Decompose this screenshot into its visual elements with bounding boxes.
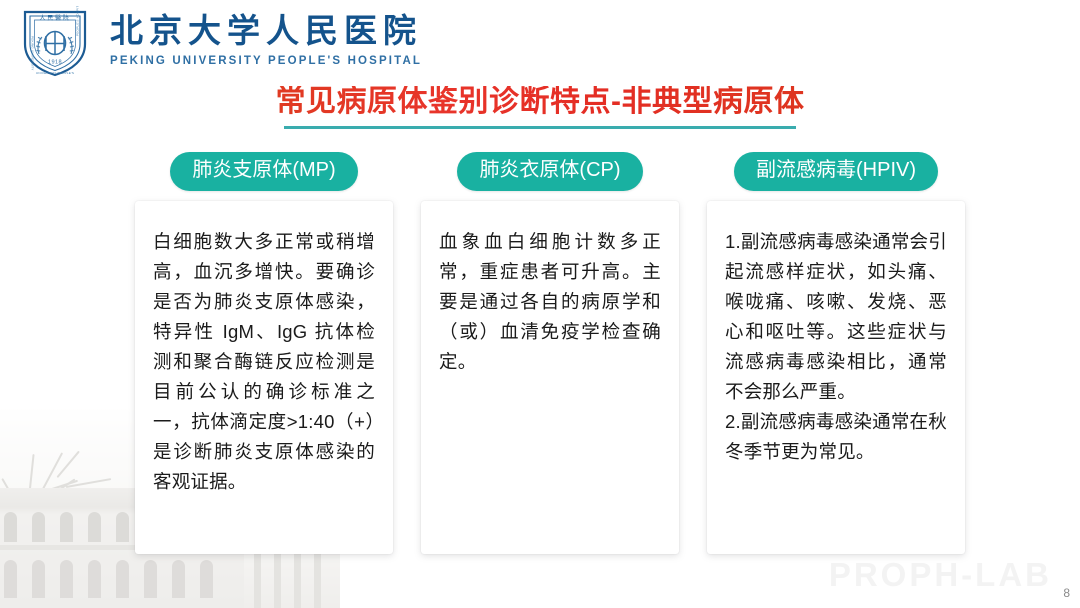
pathogen-label-cp: 肺炎衣原体(CP) xyxy=(457,152,642,191)
hospital-header: 人民醫院 1918 PEKING UNIVERSITY PEOPLE'S HOS… xyxy=(12,6,422,78)
pathogen-card-hpiv: 1.副流感病毒感染通常会引起流感样症状，如头痛、喉咙痛、咳嗽、发烧、恶心和呕吐等… xyxy=(707,201,965,554)
pathogen-card-cp: 血象血白细胞计数多正常，重症患者可升高。主要是通过各自的病原学和（或）血清免疫学… xyxy=(421,201,679,554)
svg-text:1918: 1918 xyxy=(48,60,62,66)
pathogen-label-mp: 肺炎支原体(MP) xyxy=(170,152,357,191)
watermark: PROPH-LAB xyxy=(829,556,1052,594)
hospital-name-en: PEKING UNIVERSITY PEOPLE'S HOSPITAL xyxy=(110,55,422,67)
column-chlamydia-pneumoniae: 肺炎衣原体(CP) 血象血白细胞计数多正常，重症患者可升高。主要是通过各自的病原… xyxy=(421,152,679,554)
photo-window-row-lower xyxy=(4,560,213,598)
svg-text:UNIVERSITY PEOPLE'S: UNIVERSITY PEOPLE'S xyxy=(36,71,74,75)
column-mycoplasma-pneumoniae: 肺炎支原体(MP) 白细胞数大多正常或稍增高，血沉多增快。要确诊是否为肺炎支原体… xyxy=(135,152,393,554)
hospital-name-cn: 北京大学人民医院 xyxy=(110,15,422,51)
pathogen-columns: 肺炎支原体(MP) 白细胞数大多正常或稍增高，血沉多增快。要确诊是否为肺炎支原体… xyxy=(135,152,965,554)
slide-title-area: 常见病原体鉴别诊断特点-非典型病原体 xyxy=(0,86,1080,129)
peking-university-peoples-hospital-crest-icon: 人民醫院 1918 PEKING UNIVERSITY PEOPLE'S HOS… xyxy=(12,6,98,78)
slide: 人民醫院 1918 PEKING UNIVERSITY PEOPLE'S HOS… xyxy=(0,0,1080,608)
pathogen-card-mp-text: 白细胞数大多正常或稍增高，血沉多增快。要确诊是否为肺炎支原体感染，特异性 IgM… xyxy=(153,227,375,497)
svg-text:PEKING UNIVERSITY: PEKING UNIVERSITY xyxy=(31,36,35,71)
svg-text:人民醫院: 人民醫院 xyxy=(39,14,70,22)
page-number: 8 xyxy=(1063,586,1070,600)
pathogen-card-cp-text: 血象血白细胞计数多正常，重症患者可升高。主要是通过各自的病原学和（或）血清免疫学… xyxy=(439,227,661,377)
pathogen-label-hpiv: 副流感病毒(HPIV) xyxy=(734,152,938,191)
hospital-wordmark: 北京大学人民医院 PEKING UNIVERSITY PEOPLE'S HOSP… xyxy=(110,15,422,69)
pathogen-card-hpiv-text-2: 2.副流感病毒感染通常在秋冬季节更为常见。 xyxy=(725,407,947,467)
column-human-parainfluenza-virus: 副流感病毒(HPIV) 1.副流感病毒感染通常会引起流感样症状，如头痛、喉咙痛、… xyxy=(707,152,965,554)
pathogen-card-mp: 白细胞数大多正常或稍增高，血沉多增快。要确诊是否为肺炎支原体感染，特异性 IgM… xyxy=(135,201,393,554)
page-title: 常见病原体鉴别诊断特点-非典型病原体 xyxy=(276,86,805,118)
photo-bare-tree xyxy=(10,442,130,508)
svg-text:PEOPLE'S HOSPITAL: PEOPLE'S HOSPITAL xyxy=(76,6,80,36)
title-underline xyxy=(284,126,796,129)
pathogen-card-hpiv-text-1: 1.副流感病毒感染通常会引起流感样症状，如头痛、喉咙痛、咳嗽、发烧、恶心和呕吐等… xyxy=(725,227,947,407)
